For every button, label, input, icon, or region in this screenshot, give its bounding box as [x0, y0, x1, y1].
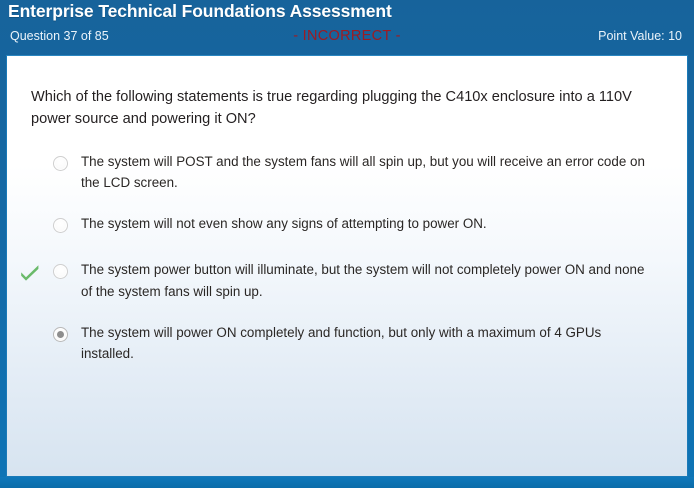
- radio-unselected-icon-3[interactable]: [53, 264, 68, 279]
- question-content-panel: Which of the following statements is tru…: [6, 55, 688, 477]
- answer-option-1[interactable]: The system will POST and the system fans…: [7, 151, 689, 193]
- answer-option-2[interactable]: The system will not even show any signs …: [7, 213, 689, 237]
- answer-option-4[interactable]: The system will power ON completely and …: [7, 322, 689, 364]
- answer-option-3[interactable]: The system power button will illuminate,…: [7, 259, 689, 301]
- assessment-title: Enterprise Technical Foundations Assessm…: [8, 1, 392, 22]
- answer-mark-slot-2: [19, 217, 41, 235]
- question-text: Which of the following statements is tru…: [31, 86, 651, 130]
- answer-mark-slot-1: [19, 155, 41, 173]
- answer-options-list: The system will POST and the system fans…: [7, 151, 689, 384]
- radio-selected-icon-4[interactable]: [53, 327, 68, 342]
- header-status-row: Question 37 of 85 - INCORRECT - Point Va…: [0, 28, 694, 50]
- quiz-window: Enterprise Technical Foundations Assessm…: [0, 0, 694, 488]
- answer-mark-slot-3: [19, 263, 41, 281]
- point-value-label: Point Value: 10: [598, 29, 682, 43]
- footer-strip: [0, 477, 694, 488]
- radio-unselected-icon-2[interactable]: [53, 218, 68, 233]
- answer-label-1: The system will POST and the system fans…: [81, 151, 689, 193]
- radio-unselected-icon-1[interactable]: [53, 156, 68, 171]
- answer-label-3: The system power button will illuminate,…: [81, 259, 689, 301]
- answer-label-2: The system will not even show any signs …: [81, 213, 689, 234]
- result-status-badge: - INCORRECT -: [0, 28, 694, 44]
- check-icon: [19, 263, 41, 281]
- quiz-header: Enterprise Technical Foundations Assessm…: [0, 0, 694, 53]
- answer-mark-slot-4: [19, 326, 41, 344]
- answer-label-4: The system will power ON completely and …: [81, 322, 689, 364]
